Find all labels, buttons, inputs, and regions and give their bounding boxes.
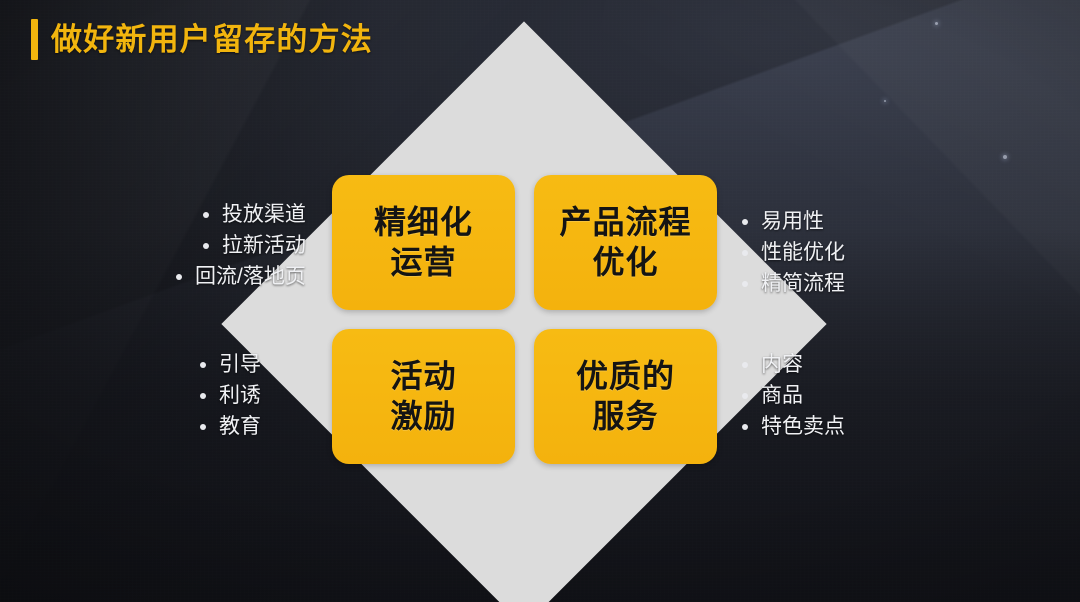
quadrant-cards: 精细化 运营 产品流程 优化 活动 激励 优质的 服务 xyxy=(332,175,717,463)
card-line: 激励 xyxy=(390,397,456,436)
list-item-label: 易用性 xyxy=(761,208,824,236)
bullet-group-content-list: 内容 商品 特色卖点 xyxy=(742,351,845,441)
bullet-dot-icon xyxy=(742,362,748,368)
list-item-label: 教育 xyxy=(219,413,261,441)
list-item: 投放渠道 xyxy=(203,201,306,229)
list-item: 商品 xyxy=(742,382,803,410)
bullet-group-channel-list: 投放渠道 拉新活动 回流/落地页 xyxy=(176,201,306,291)
diagram: 精细化 运营 产品流程 优化 活动 激励 优质的 服务 投放渠道 xyxy=(0,0,1080,602)
card-quality-service[interactable]: 优质的 服务 xyxy=(534,329,717,464)
list-item-label: 精简流程 xyxy=(761,270,845,298)
list-item: 拉新活动 xyxy=(203,232,306,260)
bullet-dot-icon xyxy=(200,424,206,430)
card-line: 运营 xyxy=(390,243,456,282)
list-item: 特色卖点 xyxy=(742,413,845,441)
bullet-dot-icon xyxy=(176,274,182,280)
list-item: 教育 xyxy=(200,413,261,441)
list-item-label: 商品 xyxy=(761,382,803,410)
slide-canvas: 做好新用户留存的方法 精细化 运营 产品流程 优化 活动 激励 优质的 服务 xyxy=(0,0,1080,602)
list-item-label: 回流/落地页 xyxy=(195,263,306,291)
bullet-dot-icon xyxy=(742,250,748,256)
card-activity-incentive[interactable]: 活动 激励 xyxy=(332,329,515,464)
bullet-dot-icon xyxy=(742,424,748,430)
list-item: 易用性 xyxy=(742,208,824,236)
list-item-label: 引导 xyxy=(219,351,261,379)
bullet-group-usability-list: 易用性 性能优化 精简流程 xyxy=(742,208,845,298)
list-item: 性能优化 xyxy=(742,239,845,267)
card-refined-operation[interactable]: 精细化 运营 xyxy=(332,175,515,310)
card-line: 精细化 xyxy=(374,203,473,242)
list-item: 利诱 xyxy=(200,382,261,410)
bullet-dot-icon xyxy=(203,243,209,249)
list-item: 内容 xyxy=(742,351,803,379)
card-line: 产品流程 xyxy=(559,203,691,242)
list-item: 回流/落地页 xyxy=(176,263,306,291)
list-item: 精简流程 xyxy=(742,270,845,298)
list-item-label: 拉新活动 xyxy=(222,232,306,260)
list-item: 引导 xyxy=(200,351,261,379)
list-item-label: 内容 xyxy=(761,351,803,379)
bullet-dot-icon xyxy=(203,212,209,218)
bullet-group-method-list: 引导 利诱 教育 xyxy=(200,351,261,441)
bullet-dot-icon xyxy=(742,281,748,287)
bullet-dot-icon xyxy=(200,393,206,399)
list-item-label: 利诱 xyxy=(219,382,261,410)
card-line: 优质的 xyxy=(576,357,675,396)
card-line: 优化 xyxy=(592,243,658,282)
bullet-dot-icon xyxy=(742,393,748,399)
card-product-flow[interactable]: 产品流程 优化 xyxy=(534,175,717,310)
bullet-dot-icon xyxy=(200,362,206,368)
list-item-label: 性能优化 xyxy=(761,239,845,267)
card-line: 活动 xyxy=(390,357,456,396)
list-item-label: 投放渠道 xyxy=(222,201,306,229)
bullet-dot-icon xyxy=(742,219,748,225)
card-line: 服务 xyxy=(592,397,658,436)
list-item-label: 特色卖点 xyxy=(761,413,845,441)
